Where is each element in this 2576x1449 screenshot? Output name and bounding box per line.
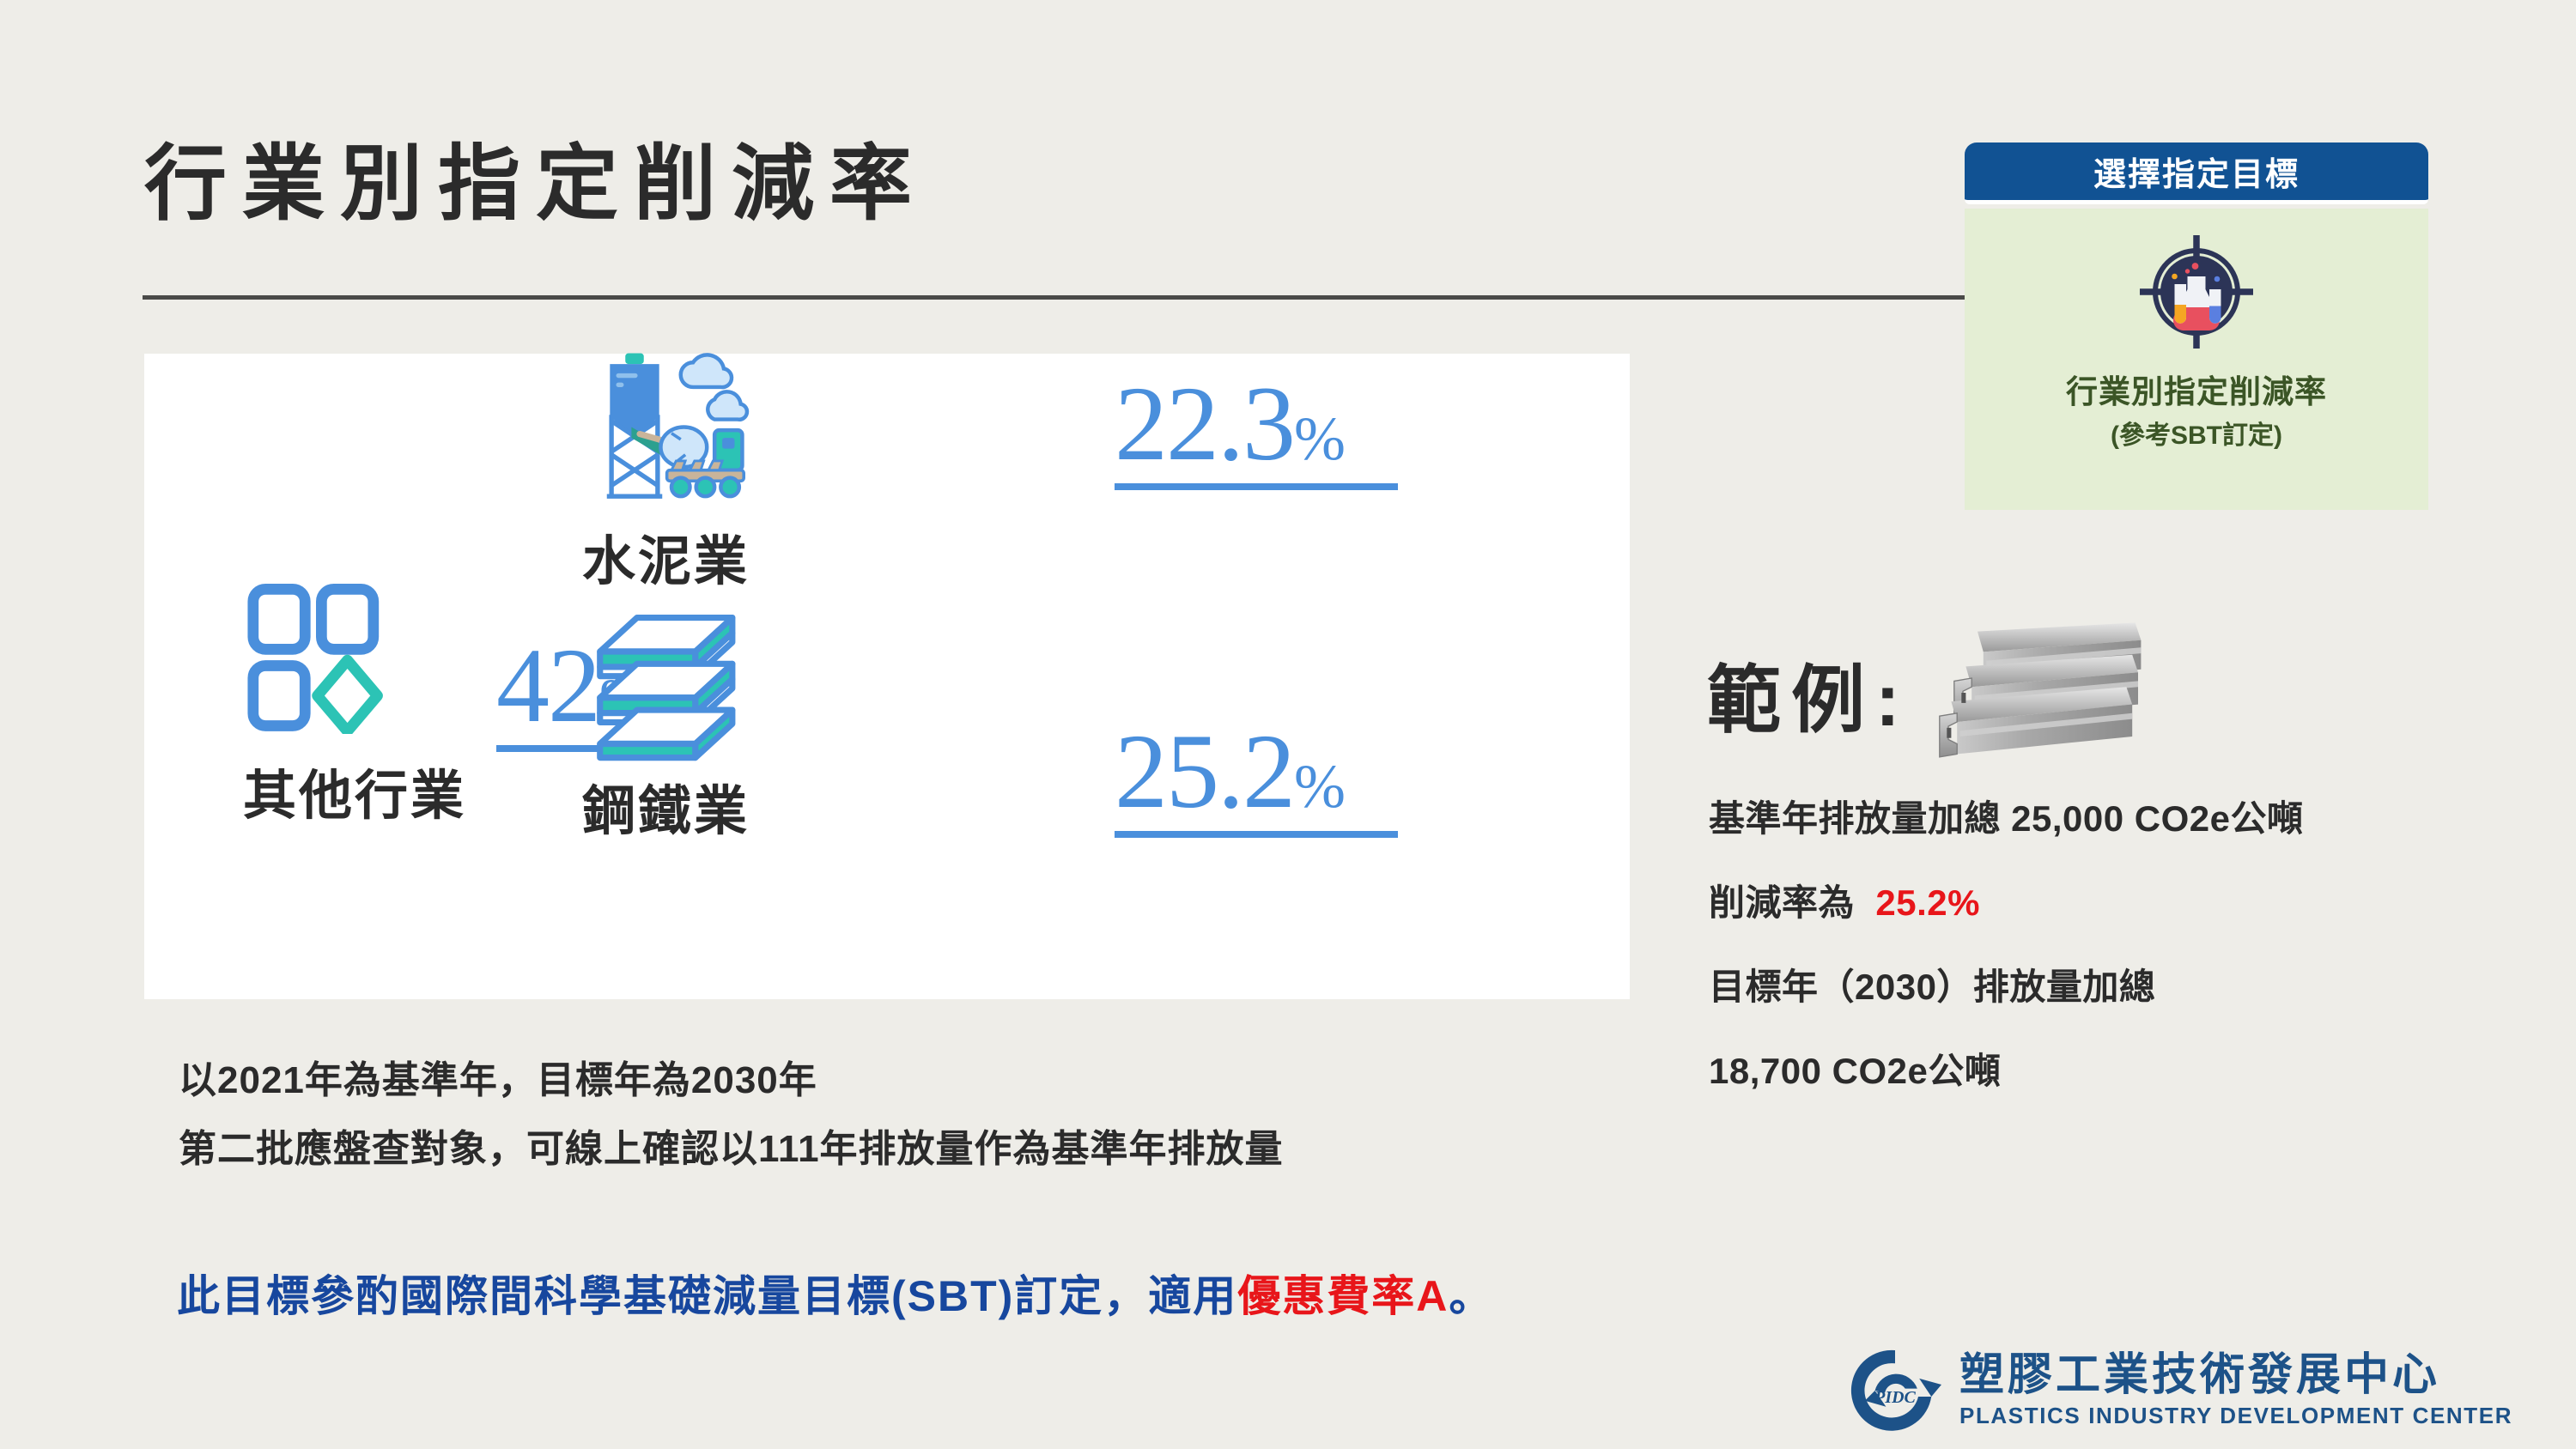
example-title: 範例:: [1707, 640, 1911, 747]
industry-rate-cement-underline: [1115, 483, 1398, 490]
pidc-logo: PIDC 塑膠工業技術發展中心 PLASTICS INDUSTRY DEVELO…: [1844, 1344, 2512, 1437]
example-target-year-total-value: 18,700 CO2e公噸: [1709, 1042, 2001, 1094]
selected-target-badge[interactable]: 選擇指定目標: [1965, 142, 2428, 510]
industry-rate-steel-number: 25.2: [1115, 712, 1294, 830]
pidc-recycle-mark: PIDC: [1844, 1344, 1946, 1437]
highlight-part-3: 。: [1449, 1272, 1493, 1320]
badge-body: 行業別指定削減率 (參考SBT訂定): [1965, 209, 2428, 510]
badge-target-label: 行業別指定削減率: [2066, 366, 2327, 412]
note-baseline-year: 以2021年為基準年，目標年為2030年: [179, 1049, 817, 1104]
industry-rate-steel-underline: [1115, 831, 1398, 838]
pidc-name-cn: 塑膠工業技術發展中心: [1959, 1352, 2512, 1399]
grid-squares-diamond-icon: [247, 584, 385, 734]
industry-rate-cement: 22.3%: [1115, 373, 1398, 490]
industry-label-other: 其他行業: [243, 752, 466, 829]
target-crosshair-lab-flask-icon: [2132, 227, 2261, 361]
cement-silo-mixer-truck-icon: [598, 349, 782, 512]
pidc-name-en: PLASTICS INDUSTRY DEVELOPMENT CENTER: [1959, 1403, 2512, 1429]
highlight-sbt-note: 此目標參酌國際間科學基礎減量目標(SBT)訂定，適用優惠費率A。: [177, 1262, 1493, 1324]
highlight-part-1: 此目標參酌國際間科學基礎減量目標(SBT)訂定，適用: [177, 1272, 1237, 1320]
badge-header-label: 選擇指定目標: [1965, 142, 2428, 204]
example-target-year-total-label: 目標年（2030）排放量加總: [1709, 958, 2155, 1010]
industry-rate-other-number: 42: [496, 627, 599, 744]
steel-beam-3d-icon: [1919, 620, 2153, 766]
example-baseline-total: 基準年排放量加總 25,000 CO2e公噸: [1709, 790, 2304, 842]
industry-rate-steel: 25.2%: [1115, 721, 1398, 838]
pidc-wordmark: 塑膠工業技術發展中心 PLASTICS INDUSTRY DEVELOPMENT…: [1959, 1352, 2512, 1429]
badge-target-sublabel: (參考SBT訂定): [2111, 414, 2282, 452]
steel-beams-stack-icon: [591, 611, 775, 766]
title-divider: [143, 295, 1965, 300]
industry-label-cement: 水泥業: [582, 518, 750, 595]
industry-rates-panel: 其他行業 42%: [144, 354, 1630, 999]
pidc-mark-text: PIDC: [1874, 1388, 1916, 1407]
industry-label-steel: 鋼鐵業: [582, 767, 750, 845]
example-heading: 範例:: [1707, 620, 2153, 766]
page-title: 行業別指定削減率: [144, 137, 927, 232]
industry-rate-cement-number: 22.3: [1115, 365, 1294, 482]
highlight-part-red: 優惠費率A: [1237, 1272, 1449, 1320]
example-reduction-rate: 削減率為 25.2%: [1709, 874, 1980, 926]
industry-rate-cement-sign: %: [1294, 404, 1346, 473]
slide-root: 行業別指定削減率 選擇指定目標: [0, 0, 2576, 1449]
example-reduction-rate-label: 削減率為: [1709, 882, 1855, 923]
note-second-batch: 第二批應盤查對象，可線上確認以111年排放量作為基準年排放量: [179, 1118, 1284, 1173]
industry-rate-steel-sign: %: [1294, 752, 1346, 821]
example-reduction-rate-value: 25.2%: [1875, 882, 1980, 923]
